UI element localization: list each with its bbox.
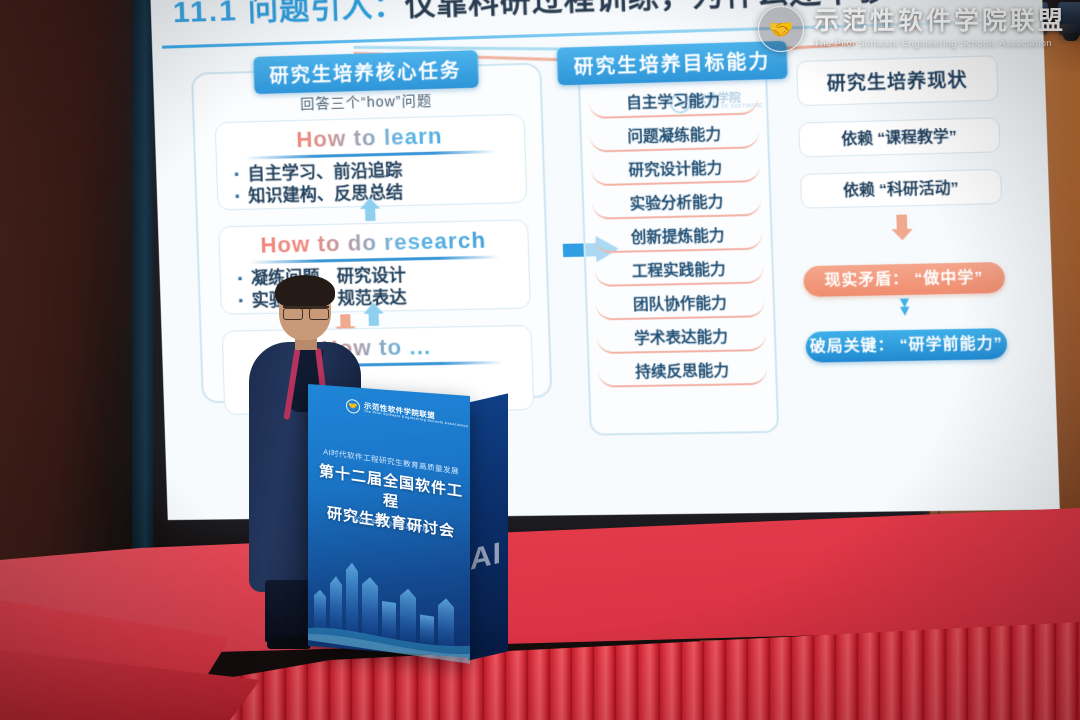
presenter-shoe	[267, 636, 311, 649]
list-item: 研究设计能力	[591, 152, 761, 186]
skyline-graphic	[308, 530, 470, 664]
presenter-hair	[275, 275, 335, 309]
target-capability-header: 研究生培养目标能力	[557, 41, 788, 86]
list-item: 团队协作能力	[595, 288, 765, 321]
conflict-tag: 现实矛盾： “做中学”	[803, 262, 1005, 297]
key-tag: 破局关键： “研学前能力”	[805, 328, 1007, 363]
target-capability-group: 研究生培养目标能力 自主学习能力 问题凝练能力 研究设计能力 实验分析能力 创新…	[577, 56, 779, 436]
list-item: 持续反思能力	[598, 355, 768, 388]
capability-list: 自主学习能力 问题凝练能力 研究设计能力 实验分析能力 创新提炼能力 工程实践能…	[589, 85, 768, 392]
association-name-cn: 示范性软件学院联盟	[814, 9, 1066, 34]
handshake-circle-icon: 🤝	[758, 6, 804, 52]
chevron-double-down-icon: ▼▼	[804, 297, 1006, 317]
association-watermark: 🤝 示范性软件学院联盟 The Pilot Software Engineeri…	[758, 6, 1066, 52]
podium-association-logo: 🤝 示范性软件学院联盟 The Pilot Software Engineeri…	[346, 398, 468, 430]
handshake-circle-icon: 🤝	[346, 398, 360, 414]
slide-topic: 问题引入：	[247, 0, 405, 27]
reliance-item: 依赖 “科研活动”	[800, 169, 1002, 209]
podium-side-panel	[468, 393, 508, 660]
association-names: 示范性软件学院联盟 The Pilot Software Engineering…	[814, 9, 1066, 49]
podium-logo-text: 示范性软件学院联盟 The Pilot Software Engineering…	[364, 402, 468, 429]
screen-bezel	[132, 0, 154, 560]
left-wall-panel	[0, 0, 152, 560]
current-state-title: 研究生培养现状	[796, 55, 999, 106]
list-item: 问题凝练能力	[590, 119, 759, 153]
list-item: 实验分析能力	[592, 186, 762, 220]
glasses-icon	[283, 306, 329, 316]
core-task-header: 研究生培养核心任务	[253, 50, 479, 94]
list-item: 工程实践能力	[594, 254, 764, 287]
skyline-svg	[308, 530, 470, 664]
list-item: 学术表达能力	[596, 321, 766, 354]
reliance-item: 依赖 “课程教学”	[798, 117, 1000, 157]
list-item: 自主学习能力	[589, 85, 758, 119]
how-to-do-research-title: How to do research	[227, 227, 519, 260]
list-item: 创新提炼能力	[593, 220, 763, 253]
arrow-down-icon	[801, 212, 1003, 243]
how-to-learn-box: How to learn 自主学习、前沿追踪 知识建构、反思总结	[215, 114, 528, 211]
slide-number: 11.1	[172, 0, 238, 29]
core-task-subnote: 回答三个“how”问题	[300, 90, 433, 114]
association-name-en: The Pilot Software Engineering Schools A…	[814, 38, 1066, 49]
podium: AI	[308, 390, 508, 662]
current-state-group: 研究生培养现状 依赖 “课程教学” 依赖 “科研活动” 现实矛盾： “做中学” …	[796, 55, 1009, 399]
podium-front-panel: 🤝 示范性软件学院联盟 The Pilot Software Engineeri…	[308, 384, 470, 658]
conference-stage-photo: 11.1问题引入：仅靠科研过程训练，为什么还不够? 研究生培养核心任务 回答三个…	[0, 0, 1080, 720]
